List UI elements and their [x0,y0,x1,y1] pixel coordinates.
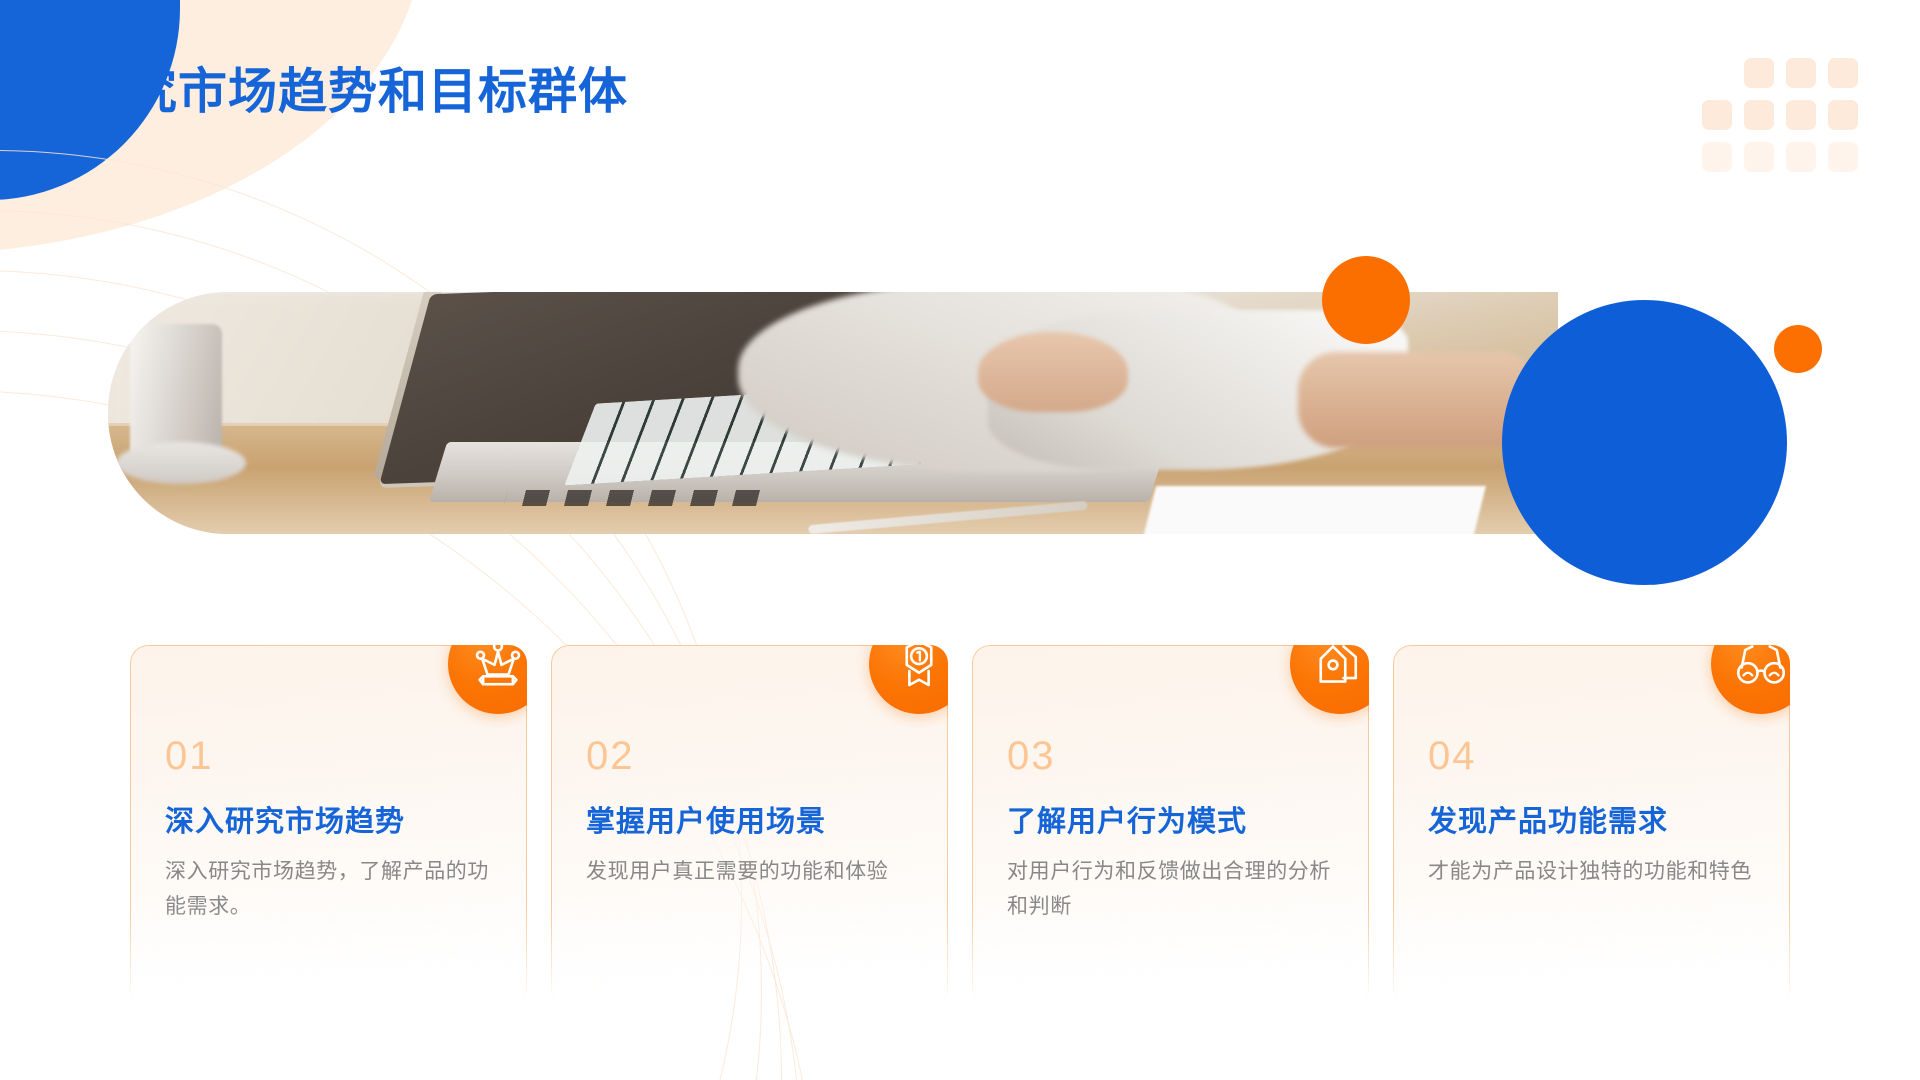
card-description: 发现用户真正需要的功能和体验 [586,854,917,889]
dot-grid-cell [1828,58,1858,88]
dot-grid-cell [1828,100,1858,130]
card-description: 才能为产品设计独特的功能和特色 [1428,854,1759,889]
crown-icon [448,614,548,714]
card-number: 04 [1428,736,1477,776]
glasses-icon [1711,614,1811,714]
card-title: 发现产品功能需求 [1428,798,1668,840]
dot-grid-cell [1744,100,1774,130]
blue-circle-decoration [1502,300,1787,585]
orange-circle-decoration-top [1322,256,1410,344]
dot-grid-cell [1786,58,1816,88]
feature-card-04[interactable]: 04 发现产品功能需求 才能为产品设计独特的功能和特色 [1393,645,1790,1007]
card-number: 02 [586,736,635,776]
dot-grid-cell [1828,142,1858,172]
card-title: 了解用户行为模式 [1007,798,1247,840]
page-title: 研究市场趋势和目标群体 [78,62,628,123]
orange-dot-decoration [1774,325,1822,373]
dot-grid-cell [1744,142,1774,172]
feature-card-03[interactable]: 03 了解用户行为模式 对用户行为和反馈做出合理的分析和判断 [972,645,1369,1007]
photo-laptop-ports [504,490,768,506]
dot-grid-cell [1702,100,1732,130]
dot-grid-decoration [1702,58,1858,172]
photo-fingers [978,332,1128,412]
houses-icon [1290,614,1390,714]
feature-card-02[interactable]: 02 掌握用户使用场景 发现用户真正需要的功能和体验 [551,645,948,1007]
card-title: 深入研究市场趋势 [165,798,405,840]
dot-grid-cell [1744,58,1774,88]
dot-grid-cell [1702,142,1732,172]
card-description: 深入研究市场趋势，了解产品的功能需求。 [165,854,496,925]
slide-canvas: 研究市场趋势和目标群体 [0,0,1920,1080]
card-description: 对用户行为和反馈做出合理的分析和判断 [1007,854,1338,925]
photo-paper-sheet [1140,486,1486,534]
feature-card-list: 01 深入研究市场趋势 深入研究市场趋势，了解产品的功能需求。 02 掌握用户使… [130,645,1790,1005]
feature-card-01[interactable]: 01 深入研究市场趋势 深入研究市场趋势，了解产品的功能需求。 [130,645,527,1007]
dot-grid-cell [1702,58,1732,88]
dot-grid-cell [1786,100,1816,130]
card-number: 01 [165,736,214,776]
peach-wave-shape [0,0,438,252]
dot-grid-cell [1786,142,1816,172]
photo-mug-base [116,442,246,484]
card-title: 掌握用户使用场景 [586,798,826,840]
card-number: 03 [1007,736,1056,776]
medal-badge-icon [869,614,969,714]
